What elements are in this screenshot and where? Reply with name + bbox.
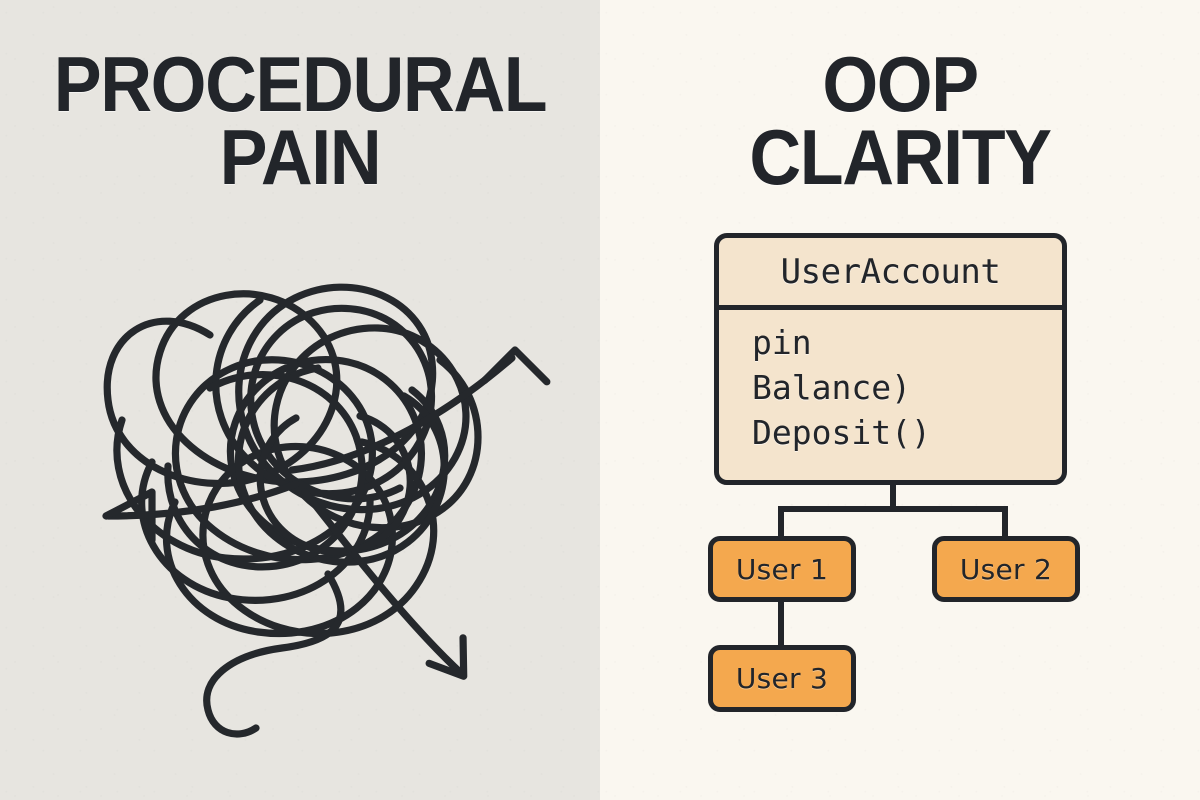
arrow-down-right [305, 492, 469, 676]
instance-box-user-1[interactable]: User 1 [708, 536, 856, 602]
scribble-loops [107, 287, 478, 633]
panel-procedural: PROCEDURAL PAIN [0, 0, 600, 800]
panel-left-title-line1: PROCEDURAL [24, 48, 576, 121]
instance-label: User 3 [736, 662, 828, 695]
instance-box-user-3[interactable]: User 3 [708, 645, 856, 712]
panel-right-title-line1: OOP [624, 48, 1176, 121]
panel-right-title: OOP CLARITY [624, 48, 1176, 195]
uml-class-member: pin [752, 320, 1062, 365]
uml-class-members: pin Balance) Deposit() [719, 310, 1062, 456]
instance-box-user-2[interactable]: User 2 [932, 536, 1080, 602]
panel-left-title-line2: PAIN [24, 121, 576, 194]
uml-class-member: Balance) [752, 365, 1062, 410]
connector-user1-to-user3 [778, 598, 784, 648]
instance-label: User 2 [960, 553, 1052, 586]
connector-bar-to-user2 [1002, 506, 1008, 539]
comparison-figure: PROCEDURAL PAIN [0, 0, 1200, 800]
tangled-scribble-illustration [60, 240, 570, 740]
uml-class-header: UserAccount [719, 238, 1062, 310]
uml-class-name: UserAccount [781, 252, 1001, 292]
panel-right-title-line2: CLARITY [624, 121, 1176, 194]
connector-bar-horizontal [778, 506, 1008, 512]
connector-bar-to-user1 [778, 506, 784, 539]
uml-class-member: Deposit() [752, 410, 1062, 455]
uml-class-box[interactable]: UserAccount pin Balance) Deposit() [714, 233, 1067, 485]
panel-left-title: PROCEDURAL PAIN [24, 48, 576, 195]
instance-label: User 1 [736, 553, 828, 586]
